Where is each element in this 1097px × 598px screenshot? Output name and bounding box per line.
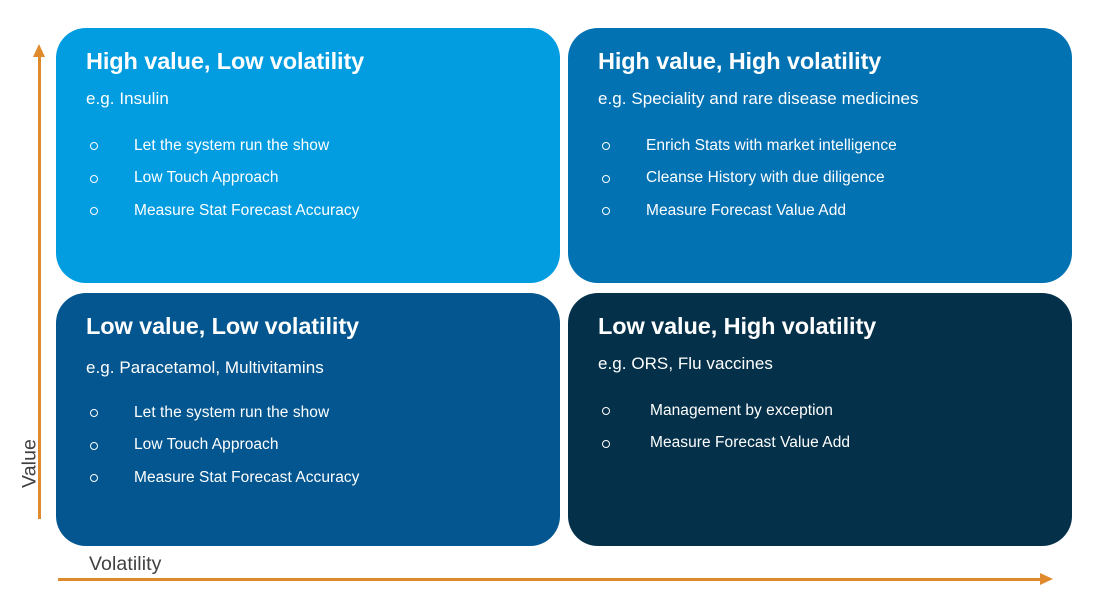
list-item-label: Measure Forecast Value Add [646,202,846,219]
circle-bullet-icon [90,409,98,417]
list-item: Low Touch Approach [86,169,534,188]
list-item: Let the system run the show [86,404,534,423]
list-item: Measure Stat Forecast Accuracy [86,202,534,221]
value-axis-arrowhead-icon [33,44,45,57]
volatility-axis-arrowhead-icon [1040,573,1053,585]
list-item: Measure Forecast Value Add [598,434,1046,453]
list-item-label: Cleanse History with due diligence [646,169,885,186]
list-item: Management by exception [598,402,1046,421]
circle-bullet-icon [90,175,98,183]
list-item-label: Let the system run the show [134,404,329,421]
circle-bullet-icon [602,142,610,150]
list-item-label: Low Touch Approach [134,169,279,186]
circle-bullet-icon [90,442,98,450]
circle-bullet-icon [90,474,98,482]
list-item-label: Measure Stat Forecast Accuracy [134,469,359,486]
quadrant-low-value-low-volatility[interactable]: Low value, Low volatility e.g. Paracetam… [56,293,560,546]
quadrant-example: e.g. Speciality and rare disease medicin… [598,89,1046,109]
quadrant-example: e.g. Insulin [86,89,534,109]
list-item: Measure Stat Forecast Accuracy [86,469,534,488]
quadrant-action-list: Enrich Stats with market intelligence Cl… [598,137,1046,221]
list-item: Cleanse History with due diligence [598,169,1046,188]
circle-bullet-icon [602,407,610,415]
y-axis-label: Value [19,414,42,514]
quadrant-high-value-high-volatility[interactable]: High value, High volatility e.g. Special… [568,28,1072,283]
circle-bullet-icon [602,207,610,215]
list-item-label: Measure Forecast Value Add [650,434,850,451]
quadrant-example: e.g. Paracetamol, Multivitamins [86,358,534,378]
list-item-label: Enrich Stats with market intelligence [646,137,897,154]
quadrant-action-list: Let the system run the show Low Touch Ap… [86,404,534,488]
list-item: Low Touch Approach [86,436,534,455]
circle-bullet-icon [602,175,610,183]
quadrant-title: High value, Low volatility [86,48,534,74]
list-item: Measure Forecast Value Add [598,202,1046,221]
x-axis-label: Volatility [89,553,162,576]
list-item-label: Let the system run the show [134,137,329,154]
quadrant-action-list: Management by exception Measure Forecast… [598,402,1046,453]
quadrant-high-value-low-volatility[interactable]: High value, Low volatility e.g. Insulin … [56,28,560,283]
quadrant-title: Low value, High volatility [598,313,1046,339]
list-item-label: Measure Stat Forecast Accuracy [134,202,359,219]
list-item-label: Low Touch Approach [134,436,279,453]
quadrant-example: e.g. ORS, Flu vaccines [598,354,1046,374]
circle-bullet-icon [90,207,98,215]
volatility-axis-line [58,578,1043,581]
quadrant-title: High value, High volatility [598,48,1046,74]
matrix-canvas: Value Volatility High value, Low volatil… [0,0,1097,598]
quadrant-grid: High value, Low volatility e.g. Insulin … [56,28,1072,546]
list-item: Enrich Stats with market intelligence [598,137,1046,156]
quadrant-low-value-high-volatility[interactable]: Low value, High volatility e.g. ORS, Flu… [568,293,1072,546]
list-item-label: Management by exception [650,402,833,419]
quadrant-action-list: Let the system run the show Low Touch Ap… [86,137,534,221]
list-item: Let the system run the show [86,137,534,156]
circle-bullet-icon [602,440,610,448]
quadrant-title: Low value, Low volatility [86,313,534,339]
circle-bullet-icon [90,142,98,150]
